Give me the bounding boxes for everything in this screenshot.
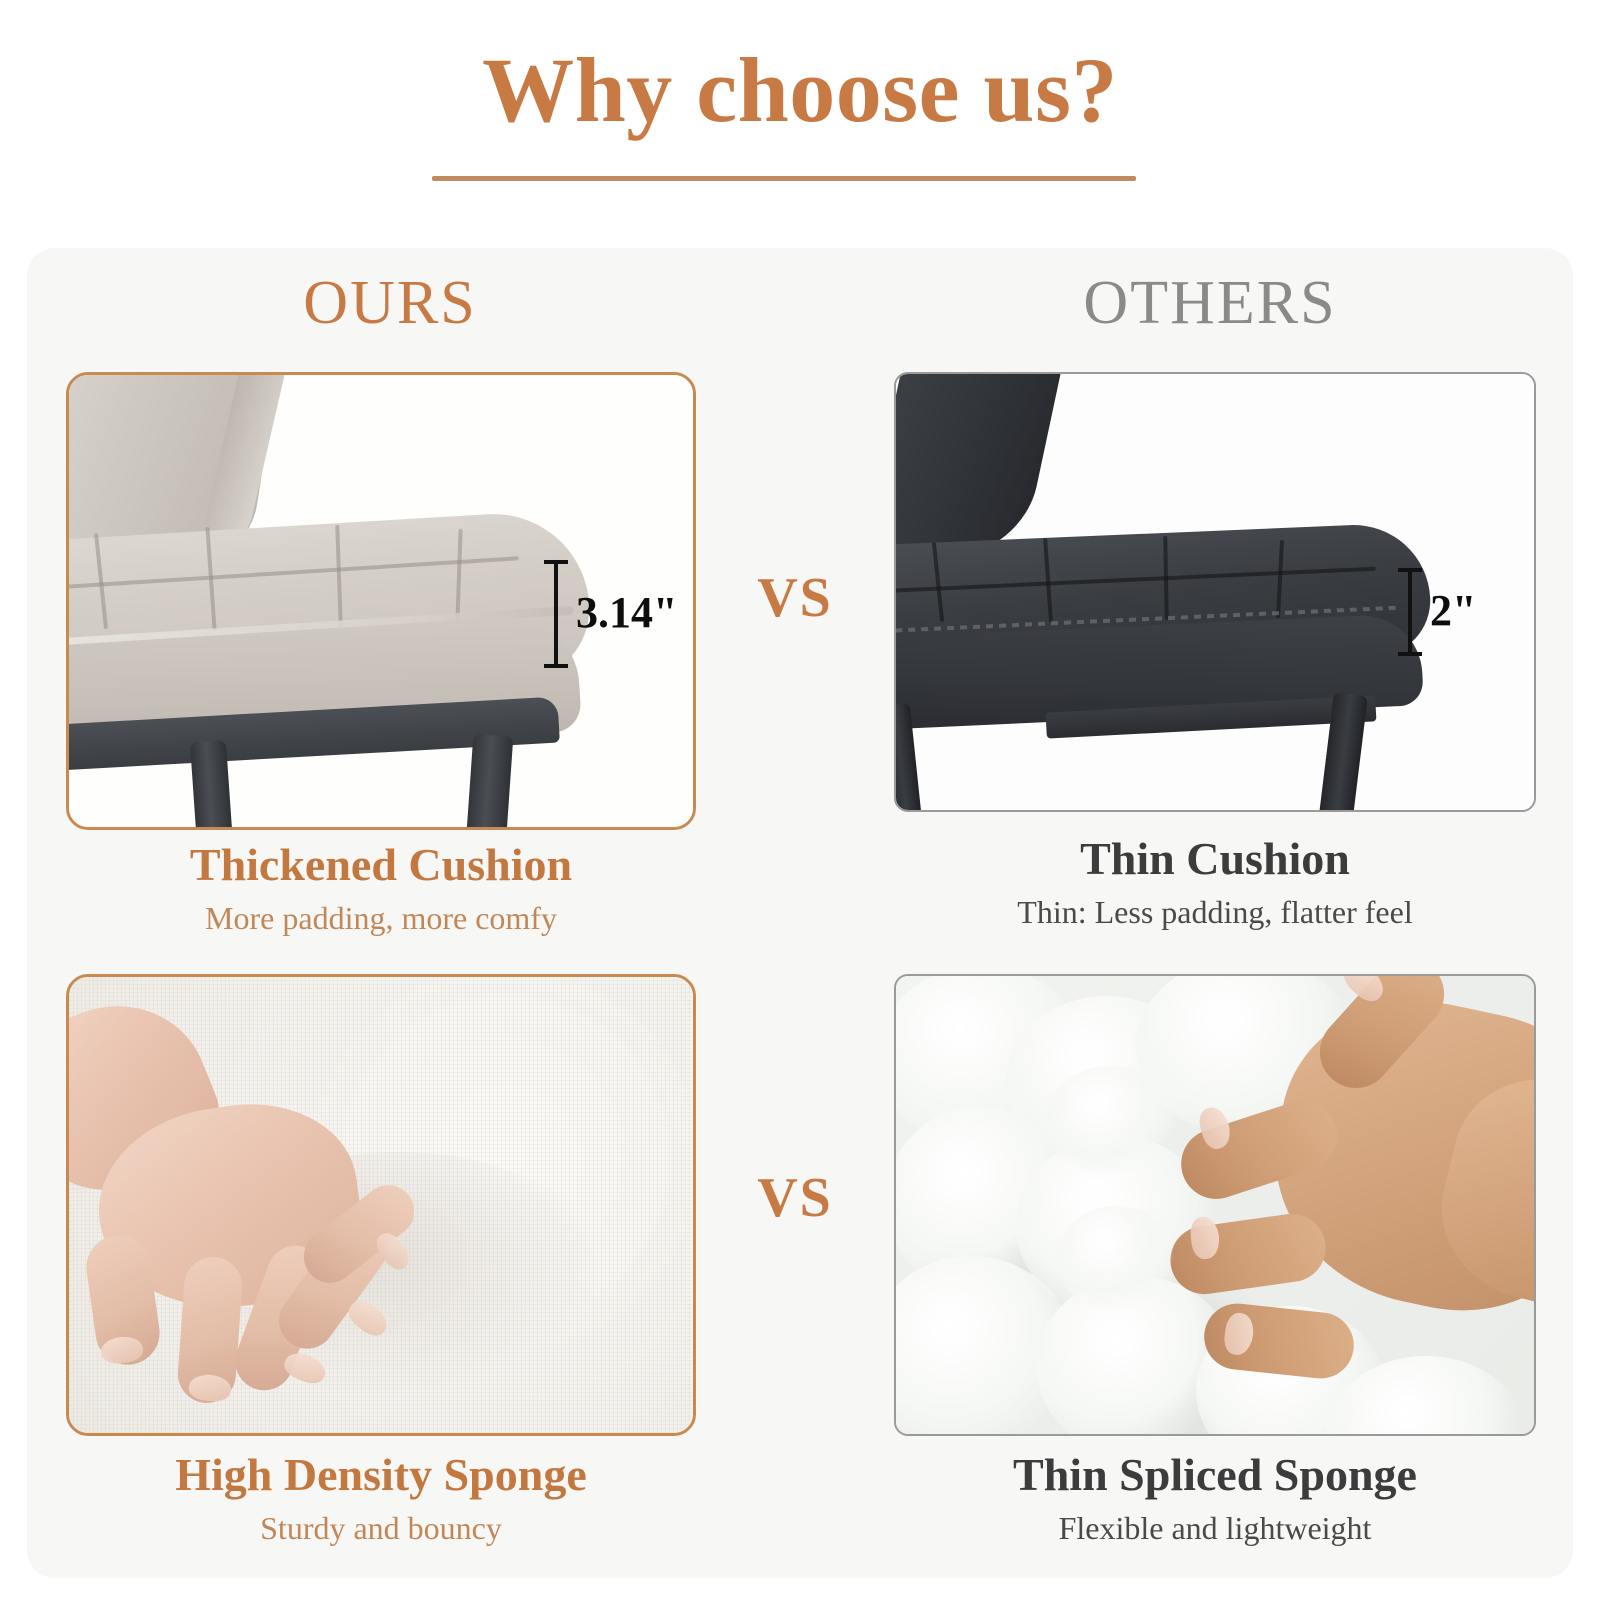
caliper-bar — [1408, 568, 1412, 656]
card-others-thin-spliced-sponge — [894, 974, 1536, 1436]
vs-separator-top: VS — [700, 570, 890, 626]
column-heading-ours: OURS — [70, 272, 710, 334]
dimension-callout-ours: 3.14" — [544, 560, 664, 668]
image-hand-in-fiber-fill — [896, 976, 1534, 1434]
caption-others-thin-cushion: Thin Cushion Thin: Less padding, flatter… — [894, 832, 1536, 932]
image-hand-on-foam — [69, 977, 693, 1433]
hand-tan — [1046, 974, 1536, 1436]
fiber-clump-foreground — [1056, 1206, 1176, 1311]
title-underline-rule — [432, 176, 1136, 181]
dimension-callout-others: 2" — [1398, 568, 1502, 656]
hand-light — [66, 1007, 489, 1427]
dimension-value-others: 2" — [1430, 589, 1476, 633]
infographic-root: Why choose us? OURS OTHERS 3.14" — [0, 0, 1600, 1600]
caliper-cap-bottom — [544, 664, 568, 668]
chair-leg — [465, 734, 514, 830]
fiber-clump-foreground — [1046, 1066, 1176, 1176]
column-heading-others: OTHERS — [880, 272, 1540, 334]
caption-others-thin-spliced-sponge: Thin Spliced Sponge Flexible and lightwe… — [894, 1448, 1536, 1548]
ring-finger — [1166, 1209, 1330, 1298]
caption-headline: Thickened Cushion — [66, 838, 696, 892]
caption-subtitle: Sturdy and bouncy — [66, 1508, 696, 1548]
caption-headline: Thin Cushion — [894, 832, 1536, 886]
caliper-cap-bottom — [1398, 652, 1422, 656]
caption-subtitle: Thin: Less padding, flatter feel — [894, 892, 1536, 932]
caption-subtitle: Flexible and lightweight — [894, 1508, 1536, 1548]
caption-headline: High Density Sponge — [66, 1448, 696, 1502]
caption-subtitle: More padding, more comfy — [66, 898, 696, 938]
caption-headline: Thin Spliced Sponge — [894, 1448, 1536, 1502]
caliper-bar — [554, 560, 558, 668]
dimension-value-ours: 3.14" — [576, 591, 677, 635]
caption-ours-high-density-sponge: High Density Sponge Sturdy and bouncy — [66, 1448, 696, 1548]
card-ours-high-density-sponge — [66, 974, 696, 1436]
caption-ours-thickened-cushion: Thickened Cushion More padding, more com… — [66, 838, 696, 938]
page-title: Why choose us? — [0, 42, 1600, 139]
vs-separator-bottom: VS — [700, 1170, 890, 1226]
